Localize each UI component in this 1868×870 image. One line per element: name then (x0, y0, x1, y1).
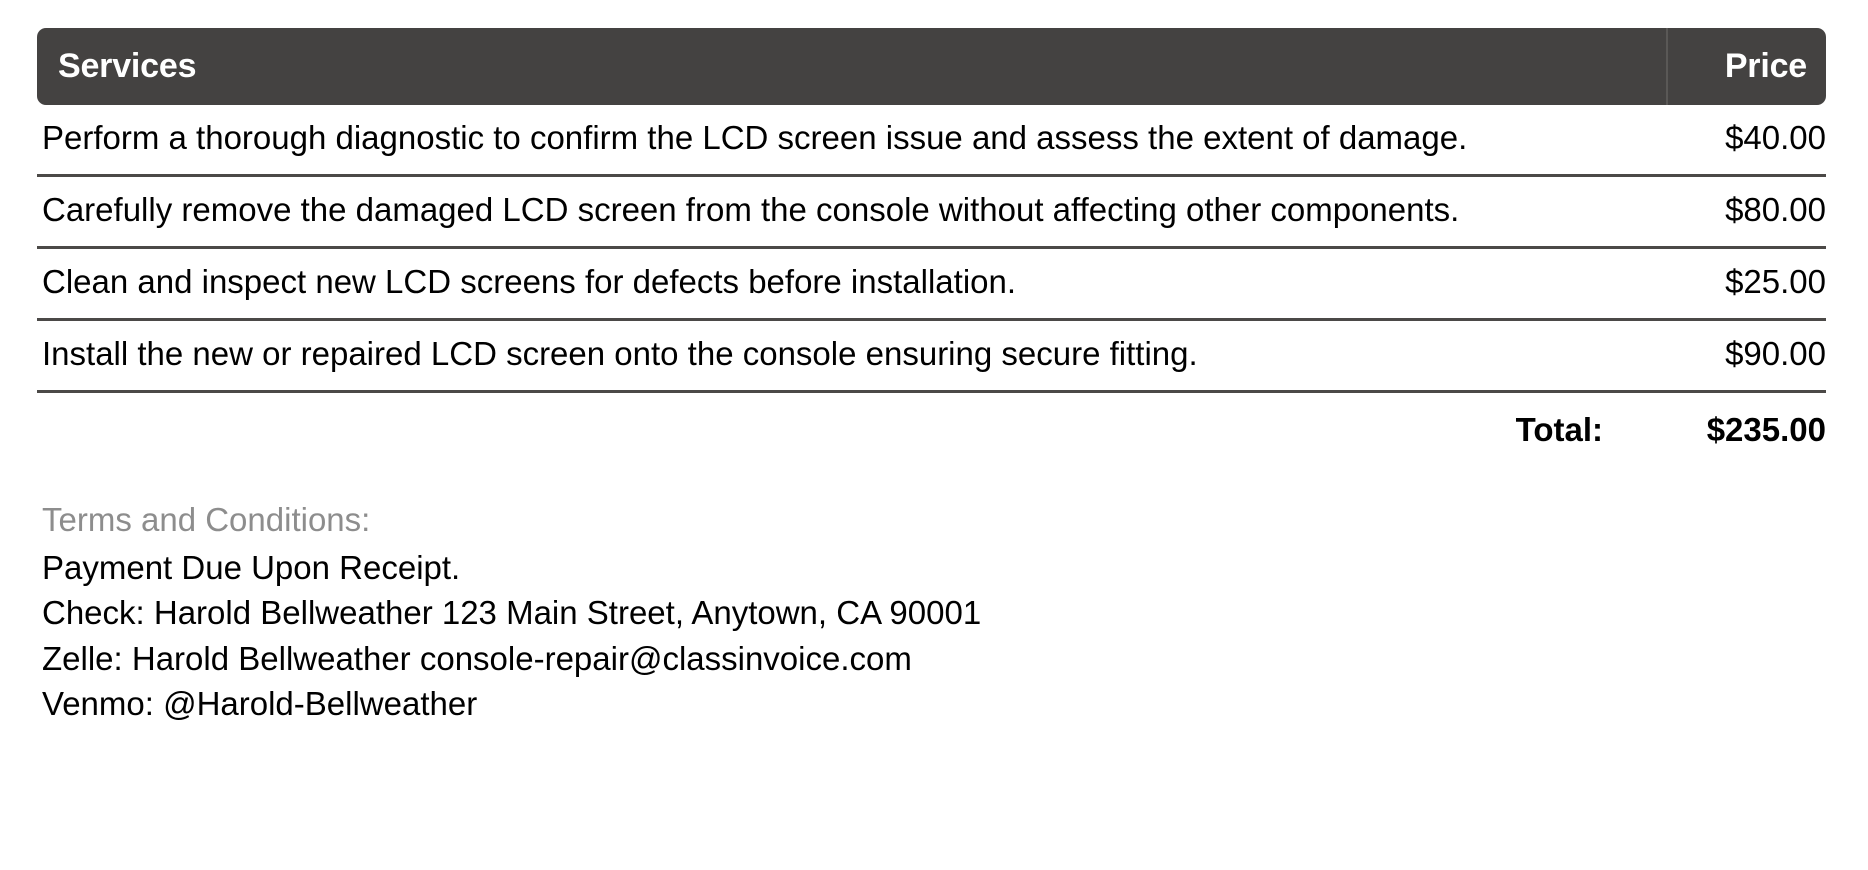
services-table-header: Services Price (37, 28, 1826, 105)
total-row: Total: $235.00 (37, 391, 1826, 449)
service-price: $40.00 (1667, 105, 1826, 175)
service-description: Carefully remove the damaged LCD screen … (37, 175, 1667, 247)
table-row: Install the new or repaired LCD screen o… (37, 319, 1826, 391)
terms-line-check: Check: Harold Bellweather 123 Main Stree… (42, 590, 1826, 635)
service-price: $80.00 (1667, 175, 1826, 247)
table-row: Clean and inspect new LCD screens for de… (37, 247, 1826, 319)
column-header-services: Services (37, 28, 1667, 105)
table-row: Perform a thorough diagnostic to confirm… (37, 105, 1826, 175)
service-description: Install the new or repaired LCD screen o… (37, 319, 1667, 391)
service-description: Clean and inspect new LCD screens for de… (37, 247, 1667, 319)
total-amount: $235.00 (1667, 391, 1826, 449)
terms-line-payment-due: Payment Due Upon Receipt. (42, 545, 1826, 590)
service-description: Perform a thorough diagnostic to confirm… (37, 105, 1667, 175)
services-table: Services Price Perform a thorough diagno… (37, 28, 1826, 449)
service-price: $90.00 (1667, 319, 1826, 391)
invoice-services-section: Services Price Perform a thorough diagno… (0, 0, 1868, 870)
services-table-body: Perform a thorough diagnostic to confirm… (37, 105, 1826, 449)
terms-and-conditions-section: Terms and Conditions: Payment Due Upon R… (37, 497, 1826, 726)
terms-line-zelle: Zelle: Harold Bellweather console-repair… (42, 636, 1826, 681)
table-row: Carefully remove the damaged LCD screen … (37, 175, 1826, 247)
terms-line-venmo: Venmo: @Harold-Bellweather (42, 681, 1826, 726)
column-header-price: Price (1667, 28, 1826, 105)
service-price: $25.00 (1667, 247, 1826, 319)
table-header-row: Services Price (37, 28, 1826, 105)
terms-title: Terms and Conditions: (42, 497, 1826, 543)
total-label: Total: (37, 391, 1667, 449)
